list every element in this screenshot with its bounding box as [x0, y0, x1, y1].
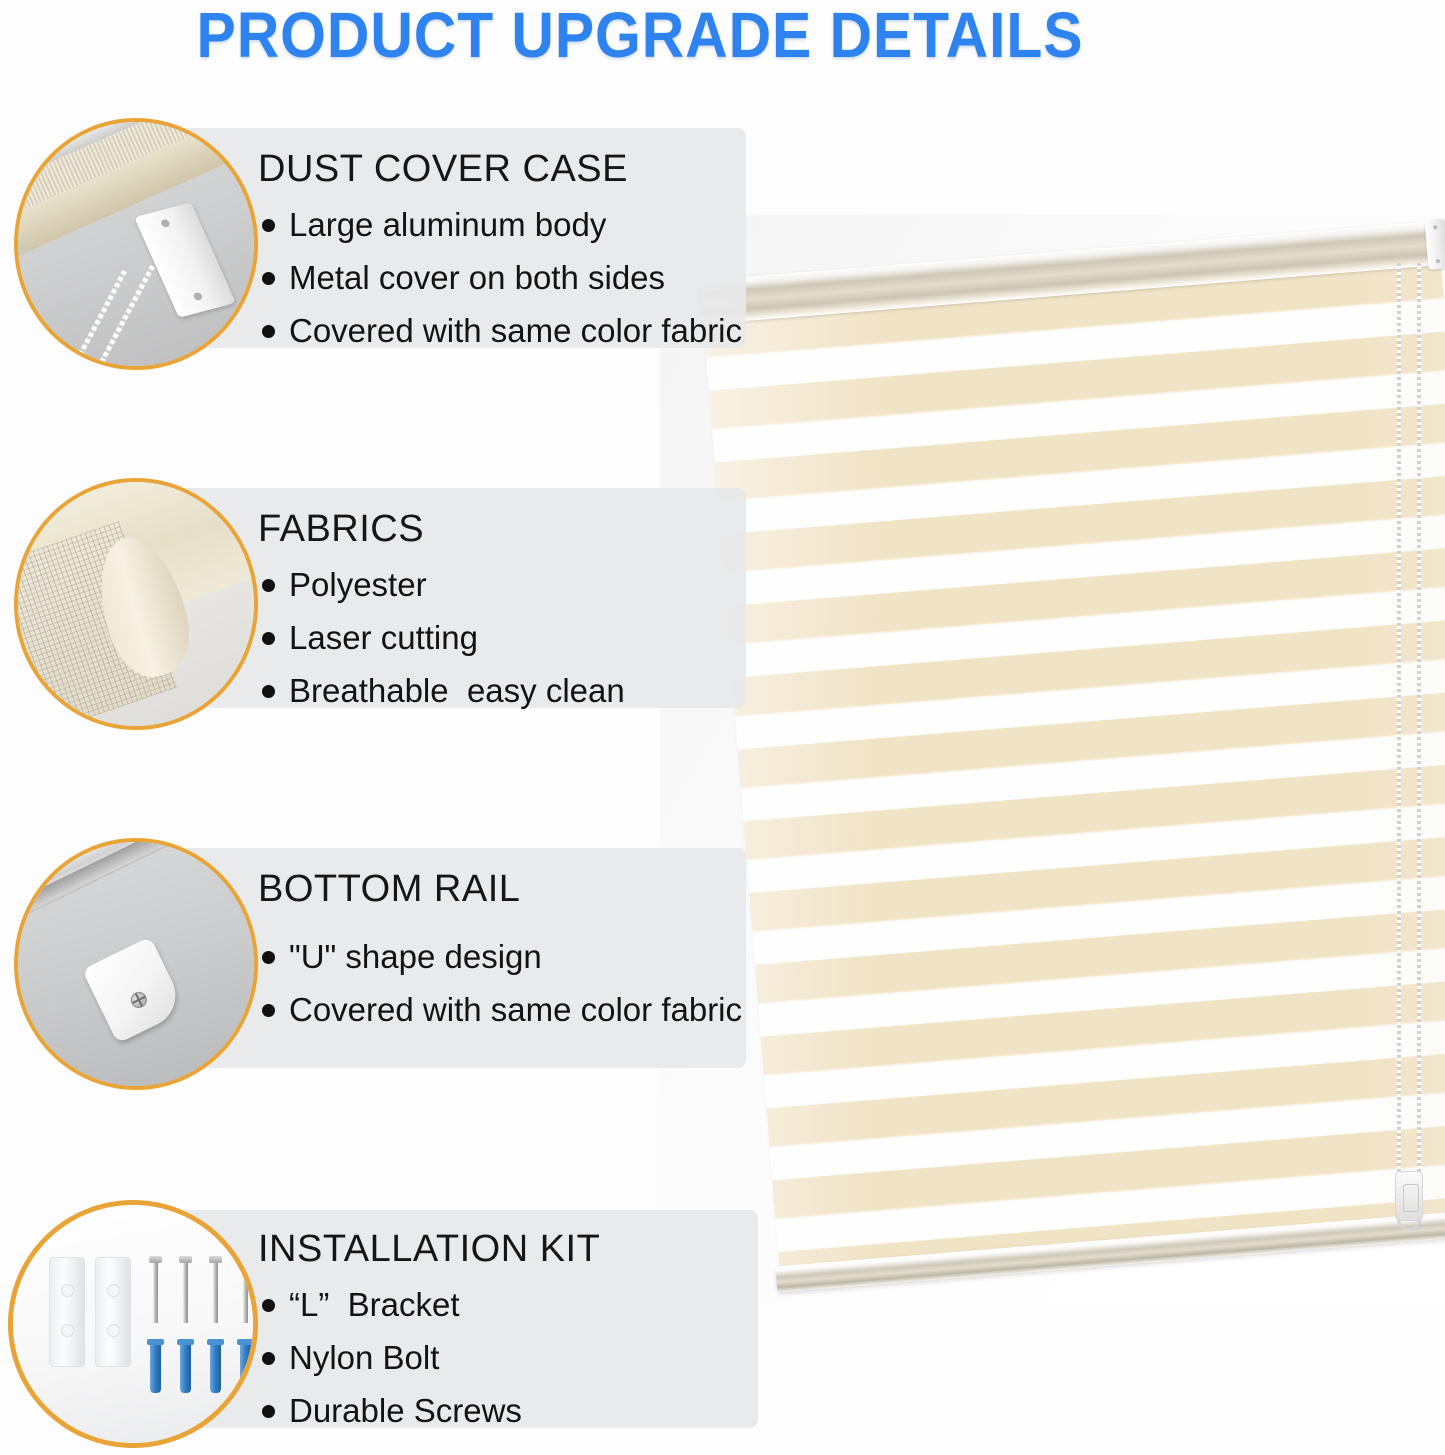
- feature-heading: FABRICS: [258, 508, 424, 551]
- bullet-text: Breathable easy clean: [289, 672, 625, 711]
- bullet-dot-icon: [262, 219, 275, 232]
- dust-cover-case-photo: [14, 118, 258, 370]
- bullet-dot-icon: [262, 1004, 275, 1017]
- l-bracket-icon: [95, 1257, 131, 1367]
- feature-heading: INSTALLATION KIT: [258, 1228, 600, 1271]
- metal-endcap-icon: [134, 202, 235, 318]
- bullet-dot-icon: [262, 685, 275, 698]
- bullet-dot-icon: [262, 632, 275, 645]
- page-title: PRODUCT UPGRADE DETAILS: [51, 0, 1229, 72]
- chain-icon: [66, 269, 127, 370]
- photo-content: [18, 842, 254, 1086]
- screw-icon: [243, 1261, 248, 1323]
- feature-bullet-list: Large aluminum body Metal cover on both …: [262, 206, 762, 351]
- photo-content: [13, 1205, 253, 1443]
- feature-bullet-list: “L” Bracket Nylon Bolt Durable Screws: [262, 1286, 762, 1431]
- screw-icon: [213, 1261, 218, 1323]
- blind-fabric-stripes: [703, 260, 1445, 1271]
- chain-icon: [94, 264, 155, 370]
- bullet-item: Polyester: [262, 566, 762, 605]
- bullet-text: Polyester: [289, 566, 427, 605]
- bullet-item: Nylon Bolt: [262, 1339, 762, 1378]
- feature-bullet-list: "U" shape design Covered with same color…: [262, 938, 762, 1030]
- bullet-item: Laser cutting: [262, 619, 762, 658]
- bullet-text: Metal cover on both sides: [289, 259, 665, 298]
- bullet-dot-icon: [262, 1352, 275, 1365]
- title-bar: PRODUCT UPGRADE DETAILS: [0, 0, 1445, 75]
- photo-content: [18, 122, 254, 366]
- feature-block-bottom-rail: BOTTOM RAIL "U" shape design Covered wit…: [0, 838, 760, 1090]
- bullet-item: Covered with same color fabric: [262, 312, 762, 351]
- bullet-text: "U" shape design: [289, 938, 542, 977]
- bullet-text: Durable Screws: [289, 1392, 522, 1431]
- bead-chain-control[interactable]: [1393, 263, 1427, 1263]
- bottom-rail-photo: [14, 838, 258, 1090]
- nylon-bolt-icon: [240, 1343, 251, 1393]
- screw-icon: [128, 990, 149, 1011]
- feature-heading: BOTTOM RAIL: [258, 868, 520, 911]
- bullet-dot-icon: [262, 325, 275, 338]
- screw-icon: [153, 1261, 158, 1323]
- photo-content: [18, 482, 254, 726]
- bullet-text: Covered with same color fabric: [289, 312, 742, 351]
- bullet-dot-icon: [262, 272, 275, 285]
- bullet-text: Nylon Bolt: [289, 1339, 439, 1378]
- rail-endcap-icon: [82, 937, 186, 1044]
- head-rail-endcap-icon: [1425, 218, 1445, 270]
- nylon-bolt-icon: [180, 1343, 191, 1393]
- nylon-bolt-icon: [210, 1343, 221, 1393]
- bullet-item: Durable Screws: [262, 1392, 762, 1431]
- feature-block-installation-kit: INSTALLATION KIT “L” Bracket Nylon Bolt …: [0, 1196, 770, 1448]
- fabrics-photo: [14, 478, 258, 730]
- product-image: [660, 215, 1445, 1305]
- bullet-dot-icon: [262, 1405, 275, 1418]
- feature-bullet-list: Polyester Laser cutting Breathable easy …: [262, 566, 762, 711]
- nylon-bolt-icon: [150, 1343, 161, 1393]
- bullet-text: “L” Bracket: [289, 1286, 460, 1325]
- bullet-item: Large aluminum body: [262, 206, 762, 245]
- bullet-item: “L” Bracket: [262, 1286, 762, 1325]
- bullet-item: Breathable easy clean: [262, 672, 762, 711]
- bullet-text: Large aluminum body: [289, 206, 606, 245]
- bullet-text: Covered with same color fabric: [289, 991, 742, 1030]
- screw-icon: [183, 1261, 188, 1323]
- chain-strand-left: [1397, 263, 1401, 1223]
- bullet-item: Metal cover on both sides: [262, 259, 762, 298]
- feature-block-fabrics: FABRICS Polyester Laser cutting Breathab…: [0, 478, 760, 730]
- l-bracket-icon: [49, 1257, 85, 1367]
- bullet-item: "U" shape design: [262, 938, 762, 977]
- chain-tensioner-clip[interactable]: [1395, 1171, 1423, 1221]
- feature-heading: DUST COVER CASE: [258, 148, 628, 191]
- feature-block-dust-cover-case: DUST COVER CASE Large aluminum body Meta…: [0, 118, 760, 370]
- bullet-dot-icon: [262, 579, 275, 592]
- chain-strand-right: [1417, 263, 1421, 1223]
- bullet-dot-icon: [262, 1299, 275, 1312]
- bullet-text: Laser cutting: [289, 619, 478, 658]
- installation-kit-photo: [8, 1200, 258, 1448]
- bullet-item: Covered with same color fabric: [262, 991, 762, 1030]
- bullet-dot-icon: [262, 951, 275, 964]
- zebra-roller-blind: [700, 225, 1445, 1281]
